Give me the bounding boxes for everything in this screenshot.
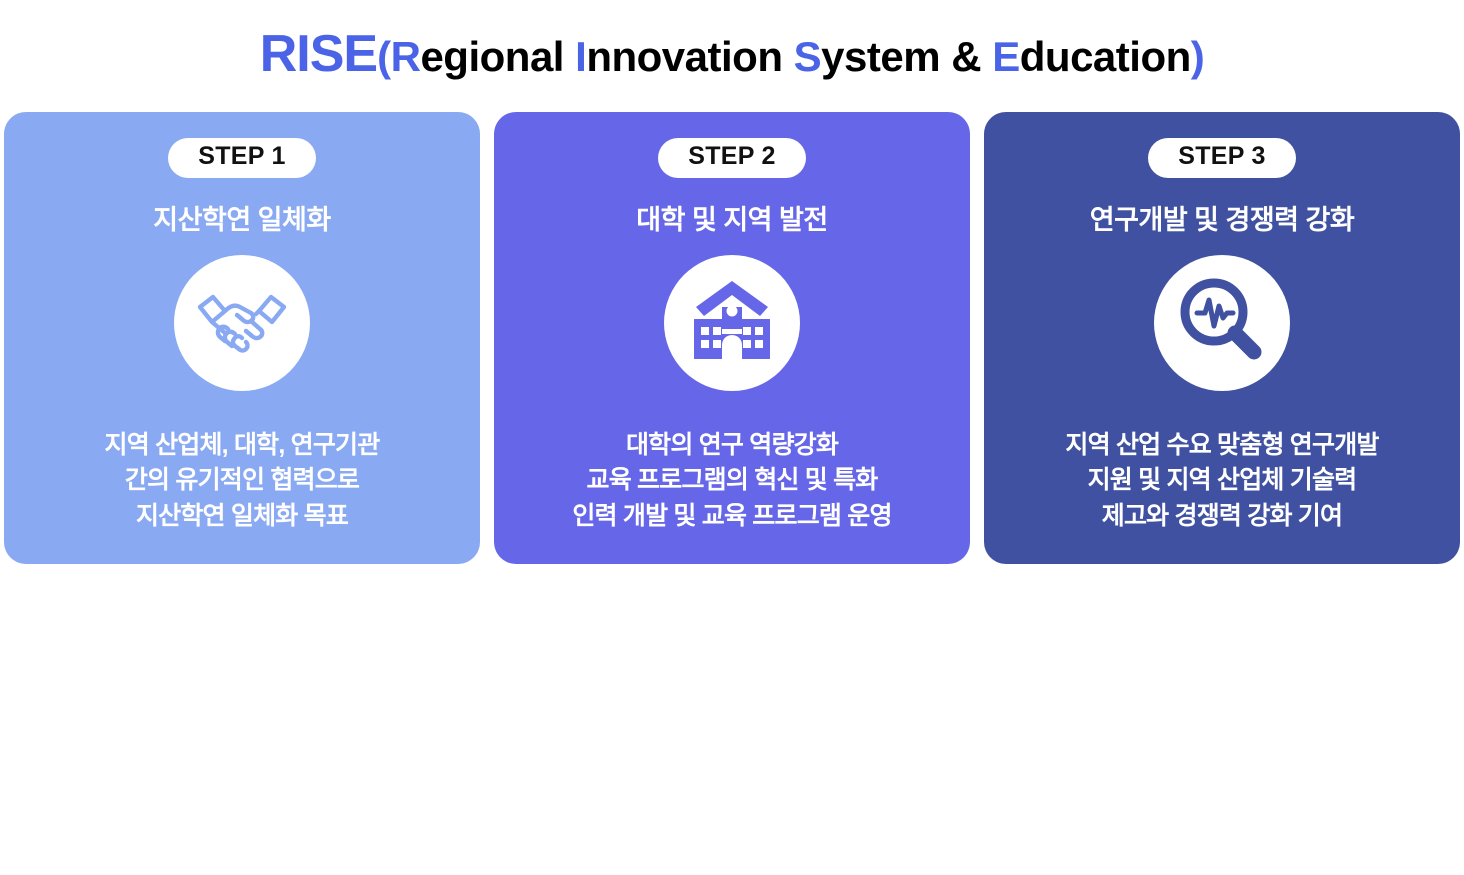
handshake-icon <box>194 285 290 360</box>
title-e-cap: E <box>992 33 1020 80</box>
step-card-2: STEP 2 대학 및 지역 발전 <box>494 112 970 564</box>
magnifier-pulse-icon <box>1176 274 1268 371</box>
step-description-3: 지역 산업 수요 맞춤형 연구개발 지원 및 지역 산업체 기술력 제고와 경쟁… <box>1065 428 1378 535</box>
title-acronym: RISE <box>260 25 377 83</box>
step-heading-3: 연구개발 및 경쟁력 강화 <box>1090 198 1354 237</box>
title-i-cap: I <box>575 33 586 80</box>
infographic-page: RISE(Regional Innovation System & Educat… <box>0 0 1464 875</box>
title-i-rest: nnovation <box>586 33 793 80</box>
title-e-rest: ducation <box>1020 33 1191 80</box>
step-description-1: 지역 산업체, 대학, 연구기관 간의 유기적인 협력으로 지산학연 일체화 목… <box>105 428 380 535</box>
page-title: RISE(Regional Innovation System & Educat… <box>0 24 1464 84</box>
role-section: 우리대학의 역할 <box>0 580 1464 875</box>
step-icon-circle-2 <box>664 255 800 391</box>
step-icon-circle-1 <box>174 255 310 391</box>
step-badge-1: STEP 1 <box>168 138 316 178</box>
step-cards-row: STEP 1 지산학연 일체화 <box>4 112 1460 564</box>
title-s-cap: S <box>794 33 822 80</box>
step-card-1: STEP 1 지산학연 일체화 <box>4 112 480 564</box>
title-open-paren: ( <box>377 33 391 80</box>
title-r-cap: R <box>391 33 421 80</box>
school-building-icon <box>684 277 780 368</box>
title-close-paren: ) <box>1191 33 1205 80</box>
title-r-rest: egional <box>420 33 575 80</box>
title-s-rest: ystem & <box>821 33 992 80</box>
step-heading-1: 지산학연 일체화 <box>153 198 330 237</box>
step-badge-3: STEP 3 <box>1148 138 1296 178</box>
step-description-2: 대학의 연구 역량강화 교육 프로그램의 혁신 및 특화 인력 개발 및 교육 … <box>572 428 891 535</box>
step-heading-2: 대학 및 지역 발전 <box>636 198 827 237</box>
step-badge-2: STEP 2 <box>658 138 806 178</box>
step-card-3: STEP 3 연구개발 및 경쟁력 강화 지역 산업 수요 맞춤형 연구개발 지… <box>984 112 1460 564</box>
step-icon-circle-3 <box>1154 255 1290 391</box>
